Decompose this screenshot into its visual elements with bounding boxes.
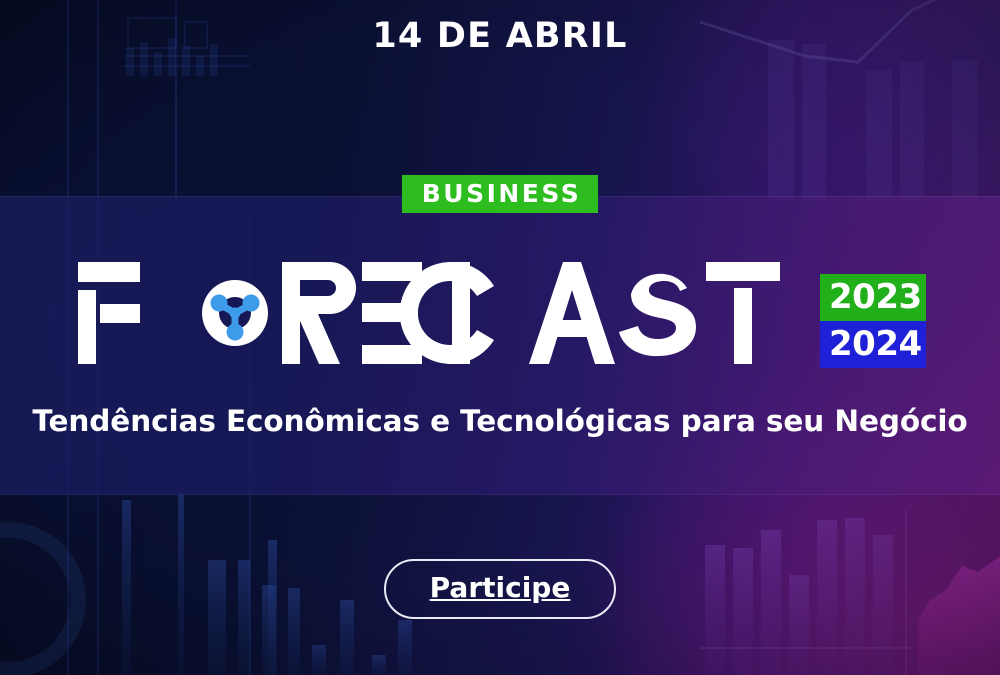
event-date-label: 14 DE ABRIL xyxy=(0,16,1000,56)
poster-subtitle: Tendências Econômicas e Tecnológicas par… xyxy=(0,404,1000,438)
category-badge: BUSINESS xyxy=(402,175,599,213)
cta-row: Participe xyxy=(0,559,1000,619)
forecasting-wordmark xyxy=(74,258,814,368)
year-badge-2023: 2023 xyxy=(820,274,926,321)
year-badge-2024: 2024 xyxy=(820,321,926,368)
brand-logo-block: 2023 2024 xyxy=(0,258,1000,368)
poster-canvas: 14 DE ABRIL BUSINESS xyxy=(0,0,1000,675)
year-badges: 2023 2024 xyxy=(820,274,926,368)
poster-content: 14 DE ABRIL BUSINESS xyxy=(0,0,1000,675)
participate-button[interactable]: Participe xyxy=(384,559,617,619)
category-badge-row: BUSINESS xyxy=(0,175,1000,213)
